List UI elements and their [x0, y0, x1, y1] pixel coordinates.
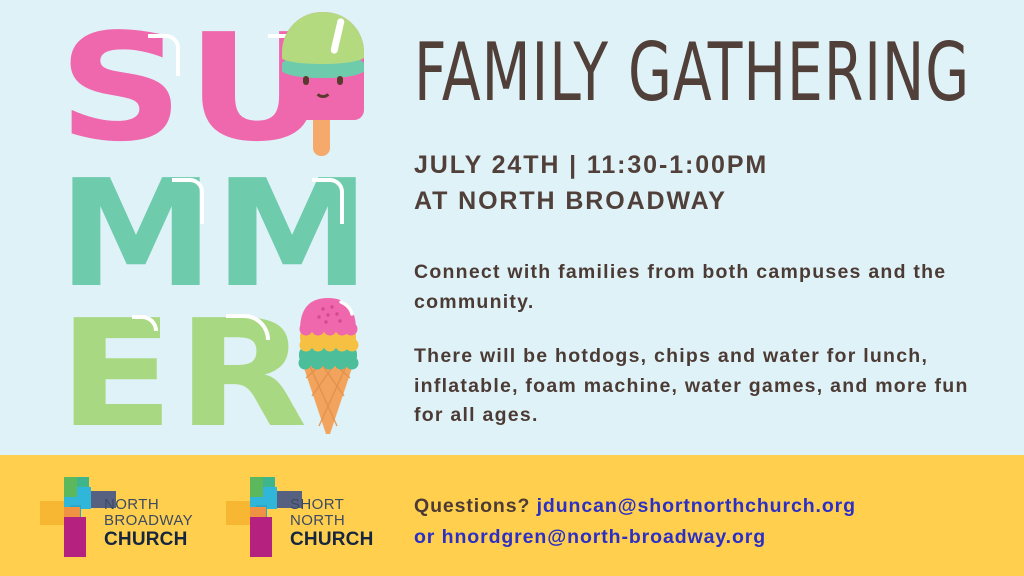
email-link-secondary[interactable]: hnordgren@north-broadway.org — [442, 526, 766, 548]
logo-block-green — [250, 477, 263, 499]
ice-cream-cone-icon — [292, 292, 364, 438]
email-link-primary[interactable]: jduncan@shortnorthchurch.org — [537, 495, 856, 517]
event-location: AT NORTH BROADWAY — [414, 184, 768, 220]
ice-cream-svg — [292, 292, 364, 438]
event-date-time: JULY 24TH | 11:30-1:00PM — [414, 148, 768, 184]
popsicle-eye-right — [337, 76, 343, 85]
footer-band: NORTH BROADWAY CHURCH SHORT NORTH CHURCH — [0, 455, 1024, 576]
popsicle-mouth — [314, 89, 332, 98]
north-broadway-church-logo[interactable]: NORTH BROADWAY CHURCH — [46, 477, 216, 557]
letter-highlight-icon — [312, 178, 344, 224]
popsicle-body — [282, 12, 364, 120]
logo-line-1: NORTH — [104, 497, 193, 513]
event-details: JULY 24TH | 11:30-1:00PM AT NORTH BROADW… — [414, 148, 768, 219]
short-north-church-logo[interactable]: SHORT NORTH CHURCH — [232, 477, 402, 557]
contact-line-2: or hnordgren@north-broadway.org — [414, 522, 856, 553]
logo-block-green — [64, 477, 77, 499]
summer-artwork-panel: SU MM ER — [0, 0, 400, 455]
logo-block-magenta — [250, 517, 272, 557]
content-column: FAMILY GATHERING JULY 24TH | 11:30-1:00P… — [414, 0, 1014, 455]
logo-line-2: BROADWAY — [104, 513, 193, 529]
letter-highlight-icon — [148, 34, 180, 76]
or-label: or — [414, 526, 435, 548]
logo-line-1: SHORT — [290, 497, 374, 513]
description-paragraph-2: There will be hotdogs, chips and water f… — [414, 342, 999, 431]
contact-block: Questions? jduncan@shortnorthchurch.org … — [414, 491, 856, 553]
popsicle-icon — [282, 12, 364, 158]
letter-highlight-icon — [172, 178, 204, 224]
logo-wordmark: SHORT NORTH CHURCH — [290, 497, 374, 549]
description-paragraph-1: Connect with families from both campuses… — [414, 258, 999, 317]
flyer-canvas: SU MM ER — [0, 0, 1024, 576]
logo-line-3: CHURCH — [104, 530, 193, 550]
cross-mark-icon — [46, 477, 110, 557]
popsicle-drip-layer — [282, 44, 364, 64]
logo-wordmark: NORTH BROADWAY CHURCH — [104, 497, 193, 549]
logo-block-magenta — [64, 517, 86, 557]
questions-label: Questions? — [414, 495, 530, 517]
logo-line-2: NORTH — [290, 513, 374, 529]
summer-letters-row-er: ER — [58, 300, 310, 448]
cross-mark-icon — [232, 477, 296, 557]
popsicle-eye-left — [303, 76, 309, 85]
logo-line-3: CHURCH — [290, 530, 374, 550]
contact-line-1: Questions? jduncan@shortnorthchurch.org — [414, 491, 856, 522]
page-title: FAMILY GATHERING — [414, 32, 970, 113]
